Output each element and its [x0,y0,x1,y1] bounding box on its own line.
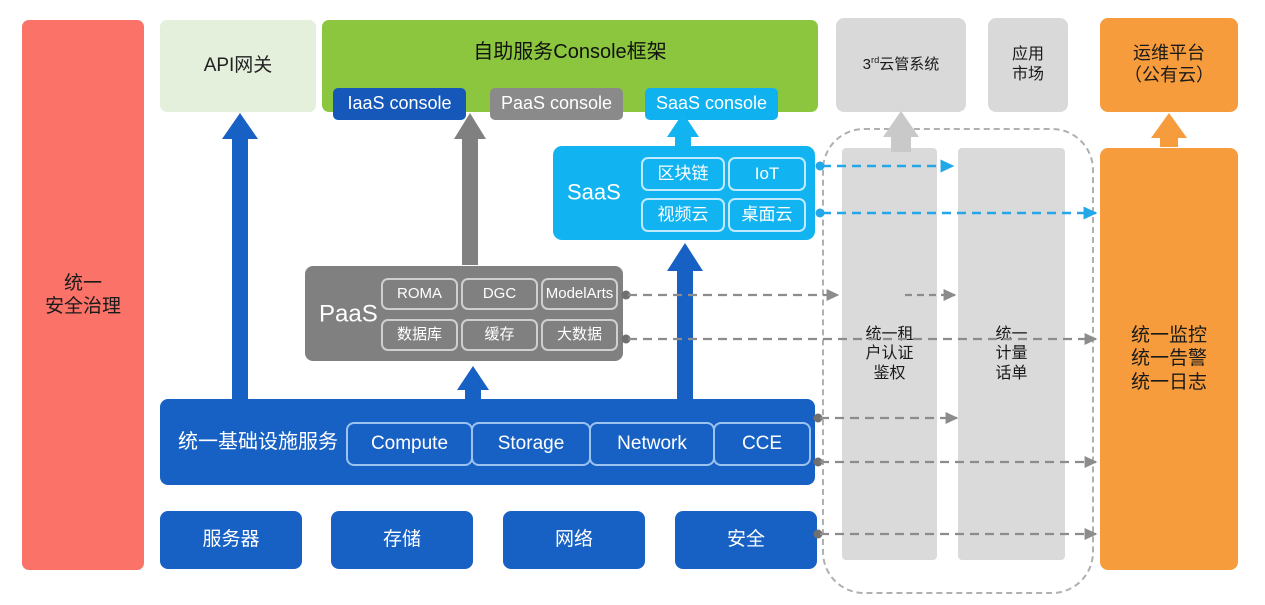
dashed-paas-to-tenant-auth [622,291,839,300]
saas-chip-blockchain[interactable]: 区块链 [641,157,725,191]
resource-box-network: 网络 [503,511,645,569]
paas-chip-dgc[interactable]: DGC [461,278,538,310]
console-framework-title: 自助服务Console框架 [322,40,818,64]
saas-panel: SaaS 区块链 IoT 视频云 桌面云 [553,146,815,240]
saas-console-chip[interactable]: SaaS console [645,88,778,120]
ops-platform-box: 运维平台 （公有云） [1100,18,1238,112]
saas-chip-iot[interactable]: IoT [728,157,806,191]
api-gateway-box: API网关 [160,20,316,112]
third-party-cloud-mgmt-box: 3rd云管系统 [836,18,966,112]
saas-chip-desktop-cloud[interactable]: 桌面云 [728,198,806,232]
infra-chip-cce[interactable]: CCE [713,422,811,466]
paas-chip-cache[interactable]: 缓存 [461,319,538,351]
arrow-ops-pillar-to-ops-platform [1151,113,1187,147]
app-market-box: 应用 市场 [988,18,1068,112]
iaas-console-chip[interactable]: IaaS console [333,88,466,120]
shared-service-metering: 统一 计量 话单 [958,148,1065,560]
unified-ops-pillar: 统一监控 统一告警 统一日志 [1100,148,1238,570]
arrow-infra-to-saas [667,243,703,400]
arrow-infra-to-paas [457,366,489,400]
paas-chip-roma[interactable]: ROMA [381,278,458,310]
infra-chip-compute[interactable]: Compute [346,422,473,466]
saas-chip-video-cloud[interactable]: 视频云 [641,198,725,232]
resource-box-security: 安全 [675,511,817,569]
resource-box-server: 服务器 [160,511,302,569]
paas-label: PaaS [319,299,378,328]
unified-infrastructure-bar: 统一基础设施服务 Compute Storage Network CCE [160,399,815,485]
console-framework: 自助服务Console框架 IaaS console PaaS console … [322,20,818,112]
unified-infrastructure-label: 统一基础设施服务 [178,430,338,454]
infra-chip-network[interactable]: Network [589,422,715,466]
arrow-infra-to-api-gateway [222,113,258,400]
resource-box-storage: 存储 [331,511,473,569]
paas-console-chip[interactable]: PaaS console [490,88,623,120]
paas-chip-database[interactable]: 数据库 [381,319,458,351]
third-party-label: 3rd云管系统 [863,55,940,74]
infra-chip-storage[interactable]: Storage [471,422,591,466]
saas-label: SaaS [567,180,621,207]
security-governance-pillar: 统一 安全治理 [22,20,144,570]
paas-chip-bigdata[interactable]: 大数据 [541,319,618,351]
shared-service-tenant-auth: 统一租 户认证 鉴权 [842,148,937,560]
paas-chip-modelarts[interactable]: ModelArts [541,278,618,310]
arrow-paas-to-console [454,113,486,265]
architecture-diagram: 统一 安全治理 API网关 自助服务Console框架 IaaS console… [0,0,1265,605]
paas-panel: PaaS ROMA DGC ModelArts 数据库 缓存 大数据 [305,266,623,361]
